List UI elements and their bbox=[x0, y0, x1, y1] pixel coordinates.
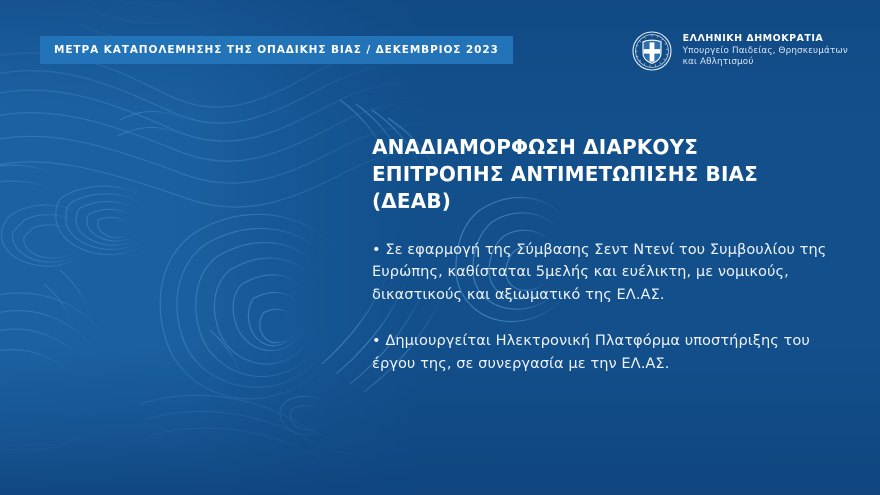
header-eyebrow-band: ΜΕΤΡΑ ΚΑΤΑΠΟΛΕΜΗΣΗΣ ΤΗΣ ΟΠΑΔΙΚΗΣ ΒΙΑΣ / … bbox=[40, 36, 513, 64]
left-gradient-wash bbox=[0, 0, 420, 495]
government-logo-text: ΕΛΛΗΝΙΚΗ ΔΗΜΟΚΡΑΤΙΑ Υπουργείο Παιδείας, … bbox=[683, 33, 848, 69]
logo-organization-name: ΕΛΛΗΝΙΚΗ ΔΗΜΟΚΡΑΤΙΑ bbox=[683, 33, 848, 46]
greek-republic-emblem-icon bbox=[632, 31, 672, 71]
eyebrow-label: ΜΕΤΡΑ ΚΑΤΑΠΟΛΕΜΗΣΗΣ ΤΗΣ ΟΠΑΔΙΚΗΣ ΒΙΑΣ / … bbox=[54, 45, 499, 56]
page-title: ΑΝΑΔΙΑΜΟΡΦΩΣΗ ΔΙΑΡΚΟΥΣ ΕΠΙΤΡΟΠΗΣ ΑΝΤΙΜΕΤ… bbox=[372, 134, 834, 216]
logo-ministry-line-1: Υπουργείο Παιδείας, Θρησκευμάτων bbox=[683, 46, 848, 58]
presentation-slide: ΜΕΤΡΑ ΚΑΤΑΠΟΛΕΜΗΣΗΣ ΤΗΣ ΟΠΑΔΙΚΗΣ ΒΙΑΣ / … bbox=[0, 0, 880, 495]
logo-ministry-line-2: και Αθλητισμού bbox=[683, 57, 848, 69]
bullet-item: • Δημιουργείται Ηλεκτρονική Πλατφόρμα υπ… bbox=[372, 330, 834, 376]
bullet-item: • Σε εφαρμογή της Σύμβασης Σεντ Ντενί το… bbox=[372, 239, 834, 307]
government-logo-lockup: ΕΛΛΗΝΙΚΗ ΔΗΜΟΚΡΑΤΙΑ Υπουργείο Παιδείας, … bbox=[632, 31, 848, 71]
slide-content: ΑΝΑΔΙΑΜΟΡΦΩΣΗ ΔΙΑΡΚΟΥΣ ΕΠΙΤΡΟΠΗΣ ΑΝΤΙΜΕΤ… bbox=[372, 134, 834, 375]
